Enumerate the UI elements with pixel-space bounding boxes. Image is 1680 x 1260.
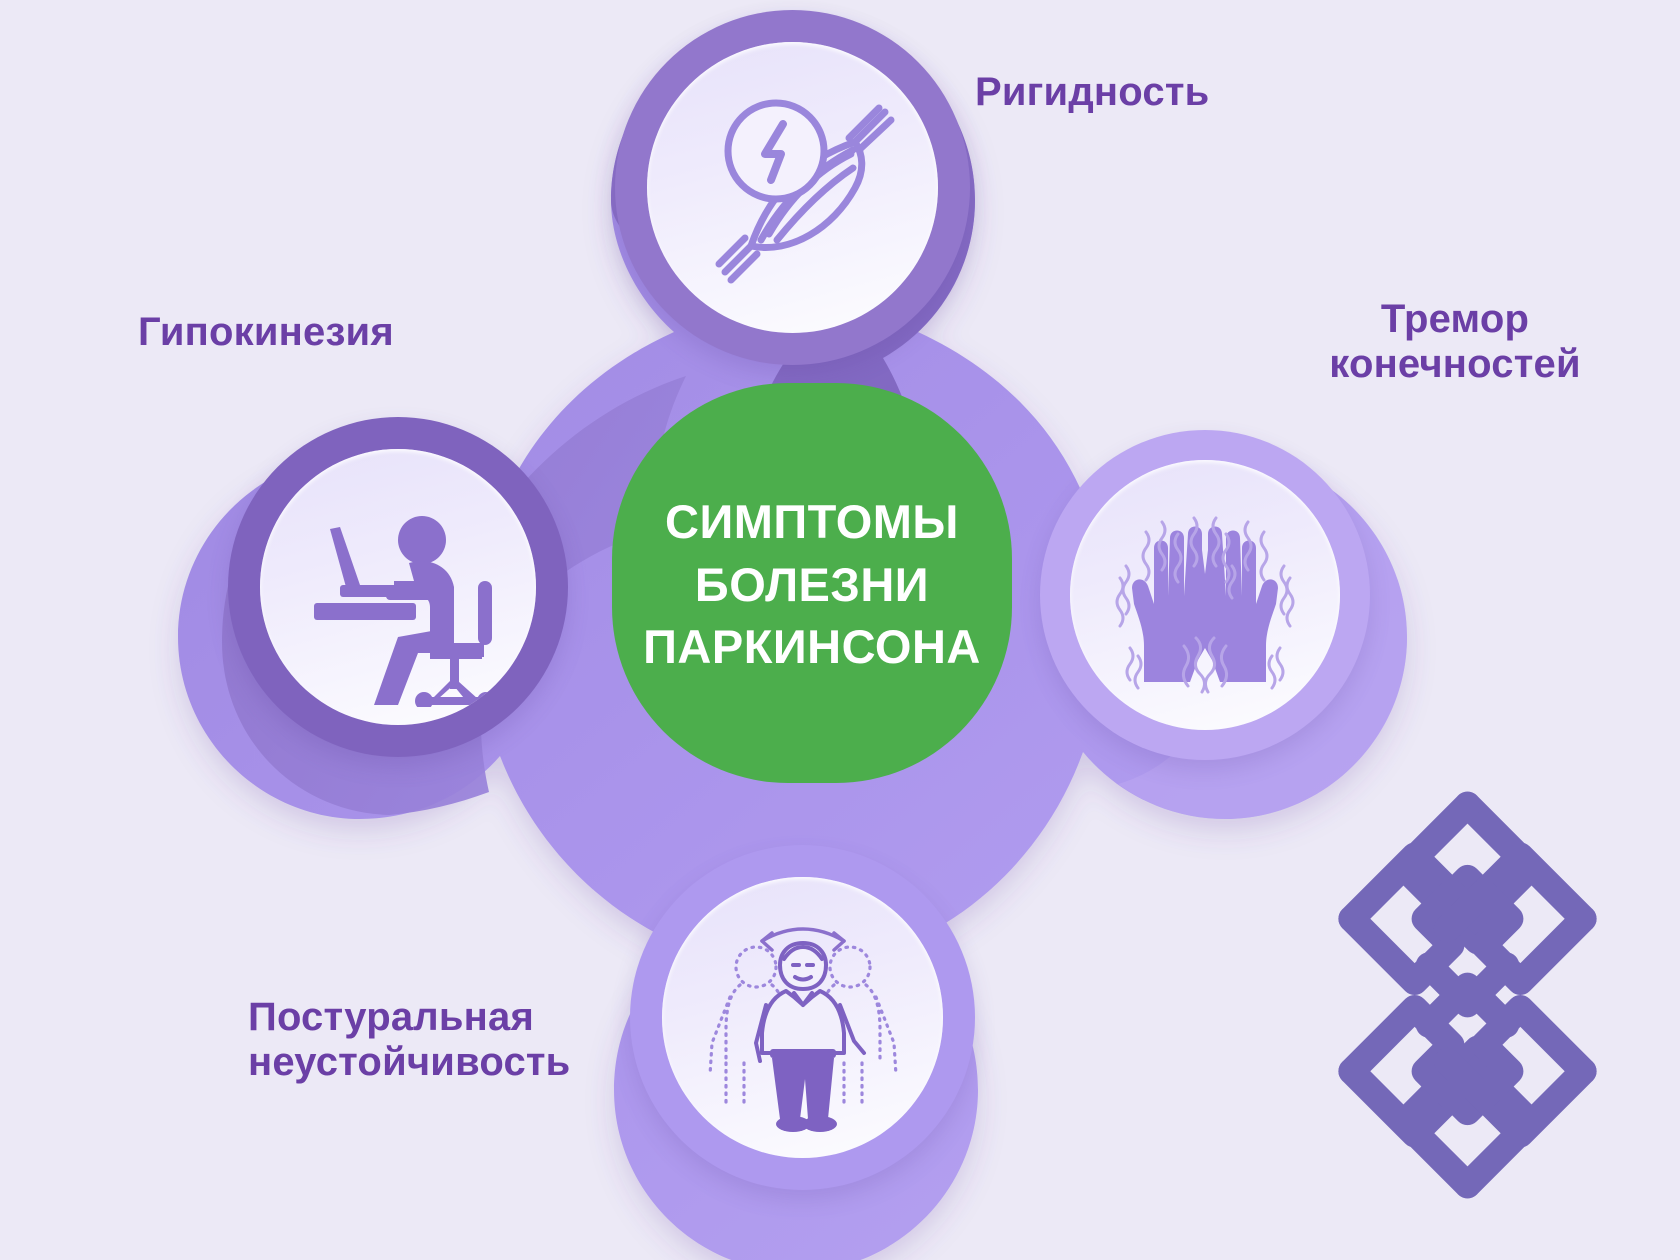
center-title: СИМПТОМЫ БОЛЕЗНИ ПАРКИНСОНА (643, 491, 981, 679)
node-disc (1070, 460, 1340, 730)
node-disc (260, 449, 536, 725)
node-tremor[interactable] (1040, 430, 1370, 760)
node-disc (662, 877, 943, 1158)
node-hypokinesia[interactable] (228, 417, 568, 757)
endless-knot-logo (1315, 775, 1620, 1215)
swaying-person-icon (678, 893, 928, 1143)
person-at-desk-icon (278, 467, 518, 707)
node-rigidity[interactable] (615, 10, 970, 365)
muscle-lightning-icon (673, 68, 913, 308)
center-badge: СИМПТОМЫ БОЛЕЗНИ ПАРКИНСОНА (612, 383, 1012, 783)
node-postural[interactable] (630, 845, 975, 1190)
node-disc (647, 42, 938, 333)
infographic-canvas: СИМПТОМЫ БОЛЕЗНИ ПАРКИНСОНА (0, 0, 1680, 1260)
trembling-hands-icon (1080, 470, 1330, 720)
